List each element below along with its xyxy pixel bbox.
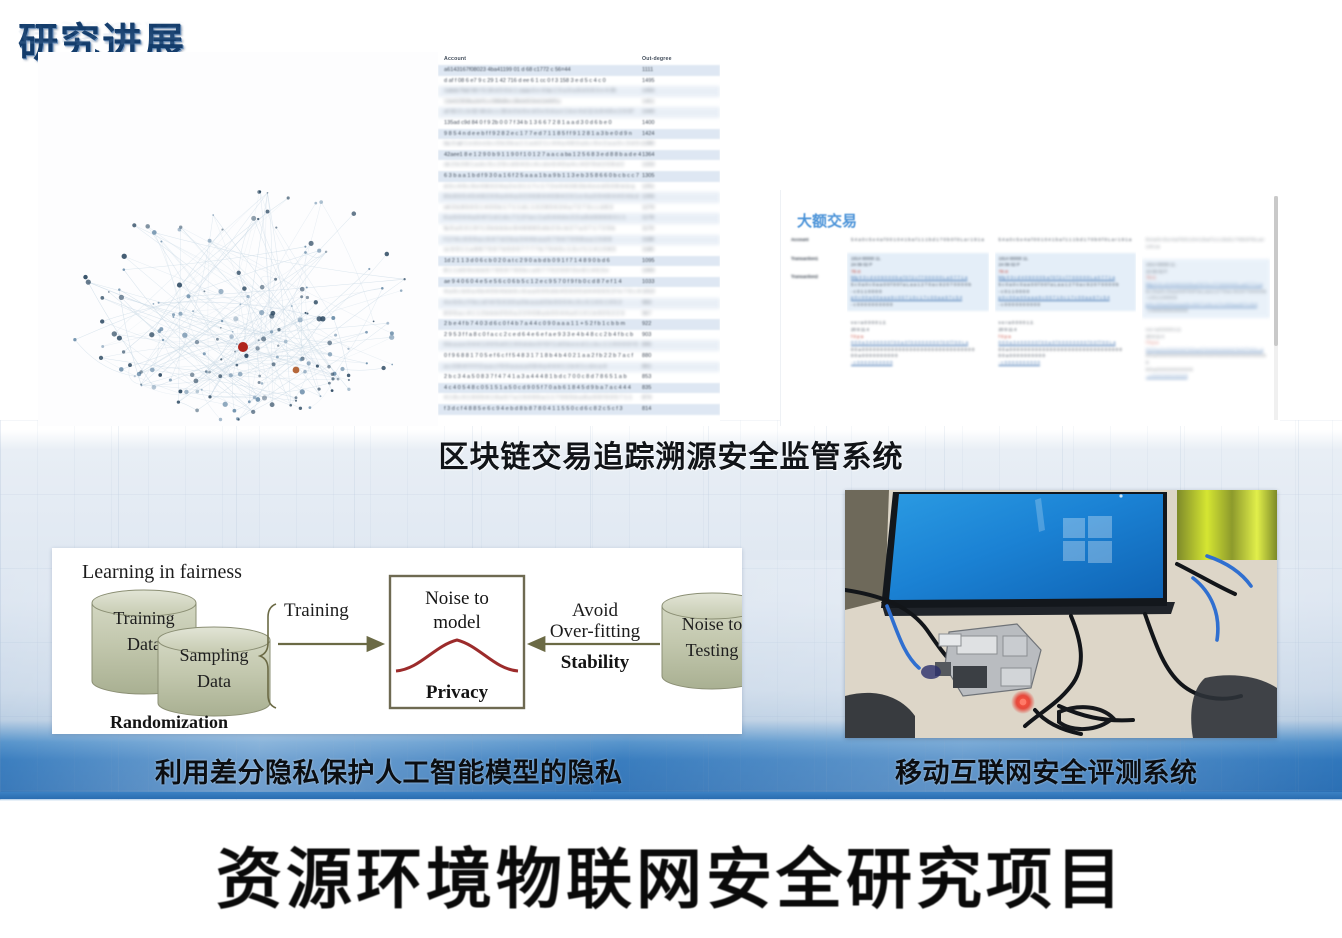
graph-node[interactable] xyxy=(368,268,370,270)
cell-out-degree: 1305 xyxy=(642,172,714,181)
graph-node[interactable] xyxy=(328,382,331,385)
graph-node[interactable] xyxy=(112,331,117,336)
transaction-detail-column-1: 5 4 a 0 c 5 e 4 a f 0 0 1 0 4 1 b a f 1 … xyxy=(847,234,989,389)
dp-box-line-2: model xyxy=(433,612,481,633)
graph-node[interactable] xyxy=(201,389,203,391)
graph-node[interactable] xyxy=(328,352,332,356)
cell-account: fa 5 a 5 3 1 9 f 1 3 b b b b e 8 4 8 8 8… xyxy=(444,225,642,234)
table-row[interactable]: f 1 f 4 c 6 5 9 a c 6 4 7 d 2 b a 3 4 4 … xyxy=(438,235,720,246)
graph-node[interactable] xyxy=(277,328,280,331)
graph-node[interactable] xyxy=(244,354,248,358)
graph-node[interactable] xyxy=(331,316,335,320)
graph-node[interactable] xyxy=(255,346,259,350)
graph-node[interactable] xyxy=(257,218,259,220)
graph-node[interactable] xyxy=(287,196,290,199)
graph-node[interactable] xyxy=(203,352,206,355)
graph-node[interactable] xyxy=(86,279,91,284)
graph-node[interactable] xyxy=(158,302,160,304)
graph-node[interactable] xyxy=(298,317,303,322)
graph-node[interactable] xyxy=(212,214,214,216)
graph-node[interactable] xyxy=(352,211,357,216)
graph-node[interactable] xyxy=(194,379,199,384)
transaction-line: 1914 00000 11. xyxy=(1146,262,1266,269)
graph-node[interactable] xyxy=(238,372,243,377)
transaction-panel-scrollbar[interactable] xyxy=(1274,196,1278,420)
cell-out-degree: 1451 xyxy=(642,98,714,107)
graph-node[interactable] xyxy=(391,364,393,366)
graph-node[interactable] xyxy=(195,340,199,344)
table-row[interactable]: ae 9 4 0 6 0 4 e 5 e 5 6 c 0 6 b 5 c 1 2… xyxy=(438,277,720,288)
graph-node[interactable] xyxy=(303,370,307,374)
graph-node[interactable] xyxy=(237,418,239,420)
graph-node[interactable] xyxy=(389,335,394,340)
cell-out-degree: 1251 xyxy=(642,183,714,192)
table-row[interactable]: a c 0 8 4 f f f f 2 a a c f 0 0 a a a a … xyxy=(438,362,720,373)
graph-node[interactable] xyxy=(331,389,334,392)
cell-out-degree: 1188 xyxy=(642,236,714,245)
graph-node[interactable] xyxy=(274,278,277,281)
graph-node[interactable] xyxy=(320,395,322,397)
graph-node[interactable] xyxy=(233,316,238,321)
graph-node[interactable] xyxy=(306,287,308,289)
table-row[interactable]: ba 3 ad 1 e d e e b c 0 b 3 b a 1 1 a d … xyxy=(438,139,720,150)
graph-node[interactable] xyxy=(348,379,350,381)
transaction-line: 5 c 0 a 0 c 0 a a 0 0 f 0 0 f a L a a 1 … xyxy=(999,282,1133,289)
graph-node[interactable] xyxy=(258,339,260,341)
transaction-line: f 0 p a xyxy=(999,334,1133,341)
graph-node[interactable] xyxy=(304,246,306,248)
graph-node[interactable] xyxy=(229,373,233,377)
transaction-label-column: Account Transaction1 Transaction2 xyxy=(787,234,841,389)
graph-node[interactable] xyxy=(219,418,222,421)
graph-node[interactable] xyxy=(233,409,237,413)
graph-node[interactable] xyxy=(304,251,307,254)
table-row[interactable]: 9 8 5 4 n d e e b f f 9 2 8 2 e c 1 7 7 … xyxy=(438,129,720,140)
graph-node[interactable] xyxy=(159,327,163,331)
transaction-line: - c 0 0 0 0 0 0 0 0 0 0 xyxy=(999,360,1133,367)
graph-node[interactable] xyxy=(295,396,298,399)
transaction-line: 0 0 0 a 3 4 0 0 0 0 0 f 0 0 a 0 f 0 0 0 … xyxy=(851,340,985,347)
cell-account: 1abdc7fa0 66 f 5 24 d 5 6 b 1 caaa 6 e 4… xyxy=(444,87,642,96)
transaction-block: v e r a 0 0 0 0 1 2.20 9 11 4f 0 p a0 0 … xyxy=(995,317,1137,369)
network-graph-panel xyxy=(38,52,438,426)
cell-out-degree: 1069 xyxy=(642,267,714,276)
ledger-table-header: Account Out-degree xyxy=(438,52,720,65)
graph-node[interactable] xyxy=(117,336,122,341)
graph-node[interactable] xyxy=(186,294,190,298)
graph-node[interactable] xyxy=(314,300,318,304)
graph-node[interactable] xyxy=(141,384,143,386)
cylinder-training-line-1: Training xyxy=(113,608,174,628)
dp-bottom-label: Randomization xyxy=(110,712,228,732)
cell-out-degree: 1265 xyxy=(642,193,714,202)
transaction-line: p 0 c 0 0 a 0 0 a a a 9 c 0 0 7 1 0 c 1 … xyxy=(851,295,985,302)
graph-node[interactable] xyxy=(318,388,321,391)
transaction-detail-column-3: 5 4 a 0 c 5 e 4 a f 0 0 1 0 4 1 b a f 1 … xyxy=(1142,234,1270,389)
transaction-line: f 0 p a xyxy=(1146,340,1266,347)
graph-node[interactable] xyxy=(299,358,302,361)
graph-node[interactable] xyxy=(373,321,375,323)
cell-account: a c 0 8 4 f f f f 2 a a c f 0 0 a a a a … xyxy=(444,363,642,372)
transaction-line: - c 0 0 0 0 0 0 0 0 0 0 xyxy=(1146,308,1266,315)
graph-node[interactable] xyxy=(236,364,239,367)
graph-node[interactable] xyxy=(190,373,194,377)
graph-node[interactable] xyxy=(366,362,368,364)
table-row[interactable]: cb 2 b 3 8 1 a d c 5 c 2 9 c d 6 4 3 c 4… xyxy=(438,160,720,171)
graph-node[interactable] xyxy=(182,333,187,338)
graph-node[interactable] xyxy=(237,271,241,275)
graph-node[interactable] xyxy=(276,356,279,359)
graph-node[interactable] xyxy=(270,402,275,407)
graph-node[interactable] xyxy=(232,331,234,333)
ledger-table-panel[interactable]: Account Out-degree a6143167f08023 4ba411… xyxy=(438,52,720,426)
graph-node[interactable] xyxy=(386,322,389,325)
graph-node[interactable] xyxy=(221,320,223,322)
graph-node[interactable] xyxy=(248,400,251,403)
table-row[interactable]: d 3 c 4 9 c 9 e 0 8 3 2 4 a 2 e 3 1 1 7 … xyxy=(438,182,720,193)
graph-secondary-node[interactable] xyxy=(293,367,300,374)
cell-account: ba 3 ad 1 e d e e b c 0 b 3 b a 1 1 a d … xyxy=(444,140,642,149)
cell-account: 4 c 4 0 5 4 8 c 0 5 1 5 1 a 5 0 c d 9 0 … xyxy=(444,384,642,393)
cell-account: f 1 f 4 c 6 5 9 a c 6 4 7 d 2 b a 3 4 4 … xyxy=(444,236,642,245)
graph-node[interactable] xyxy=(234,351,236,353)
table-row[interactable]: 2 b e 4 f b 7 4 0 3 d 6 c 0 f 4 b 7 a 4 … xyxy=(438,319,720,330)
cell-out-degree: 861 xyxy=(642,363,714,372)
graph-node[interactable] xyxy=(347,374,351,378)
table-row[interactable]: 8 b 8 6 5 4 5 4 8 2 0 9 a 4 4 a 3 2 0 6 … xyxy=(438,192,720,203)
cell-account: 2 b e 4 f b 7 4 0 3 d 6 c 0 f 4 b 7 a 4 … xyxy=(444,320,642,329)
graph-node[interactable] xyxy=(192,310,194,312)
graph-node[interactable] xyxy=(291,305,293,307)
transaction-line: 20 9 11 4 xyxy=(851,327,985,334)
graph-node[interactable] xyxy=(172,316,174,318)
graph-node[interactable] xyxy=(178,312,182,316)
column-header-out-degree: Out-degree xyxy=(642,56,714,62)
ledger-table-body[interactable]: a6143167f08023 4ba41199 01 d 68 c1772 c … xyxy=(438,65,720,415)
cell-out-degree: 922 xyxy=(642,320,714,329)
transaction-line: 20 9 11 4 xyxy=(1146,334,1266,341)
cell-account: 4 e 6 0 c f f b c d f 4 f 5 0 3 0 a 0 b … xyxy=(444,299,642,308)
graph-node[interactable] xyxy=(152,230,157,235)
table-row[interactable]: 1abdc7fa0 66 f 5 24 d 5 6 b 1 caaa 6 e 4… xyxy=(438,86,720,97)
table-row[interactable]: 6 a 6 0 4 4 a 0 4 f 1 d 1 d c 7 1 2 f a … xyxy=(438,213,720,224)
graph-node[interactable] xyxy=(258,381,261,384)
cell-account: 9 b a a e 0 4 4 1 0 0 5 d 0 1 9 0 d d e … xyxy=(444,341,642,350)
graph-node[interactable] xyxy=(139,370,143,374)
graph-node[interactable] xyxy=(267,192,269,194)
cell-account: 2 9 5 3 f f a 8 c 0 f a c c 2 c e d 6 4 … xyxy=(444,331,642,340)
graph-node[interactable] xyxy=(223,402,228,407)
cell-account: cb 2 b 3 8 1 a d c 5 c 2 9 c d 6 4 3 c 4… xyxy=(444,161,642,170)
graph-node[interactable] xyxy=(220,358,222,360)
cell-out-degree: 1170 xyxy=(642,225,714,234)
graph-node[interactable] xyxy=(300,287,305,292)
graph-node[interactable] xyxy=(284,340,288,344)
table-row[interactable]: a6143167f08023 4ba41199 01 d 68 c1772 c … xyxy=(438,65,720,76)
differential-privacy-diagram-panel: Learning in fairness Training Data Sampl… xyxy=(52,548,742,734)
graph-node[interactable] xyxy=(150,368,155,373)
lab-photo-panel xyxy=(845,490,1277,738)
graph-node[interactable] xyxy=(277,345,279,347)
graph-node[interactable] xyxy=(108,291,110,293)
cell-account: f 3 d c f 4 8 8 5 e 6 c 9 4 e b d 8 b 8 … xyxy=(444,405,642,414)
table-row[interactable]: 4 e 6 0 c f f b c d f 4 f 5 0 3 0 a 0 b … xyxy=(438,298,720,309)
graph-node[interactable] xyxy=(261,336,266,341)
cell-account: 13e62359ba3ef1cc088d8ec38eb503eb1b66f1z xyxy=(444,98,642,107)
graph-node[interactable] xyxy=(300,295,303,298)
transaction-line: 24 09 02 P xyxy=(851,262,985,269)
cell-out-degree: 853 xyxy=(642,373,714,382)
cylinder-noise-testing: Noise to Testing xyxy=(662,593,742,689)
graph-node[interactable] xyxy=(331,377,334,380)
graph-node[interactable] xyxy=(307,361,311,365)
table-row[interactable]: cc 6 9 1 1 a 8 8 7 5 9 7 b 5 0 0 7 7 7 7… xyxy=(438,245,720,256)
cell-account: 8 9 9 a c 4 1 1 2 b b b 0 5 0 a 2 2 0 0 … xyxy=(444,310,642,319)
graph-node[interactable] xyxy=(208,371,211,374)
table-row[interactable]: af 93 2 c b 02 44 d c c 26 b 0 b 9 e d 0… xyxy=(438,107,720,118)
transaction-line: 5 4 a 0 c 5 e 4 a f 0 0 1 0 4 1 b a f 1 … xyxy=(851,237,985,244)
graph-node[interactable] xyxy=(259,310,264,315)
graph-node[interactable] xyxy=(218,289,223,294)
cell-out-degree: 903 xyxy=(642,331,714,340)
graph-node[interactable] xyxy=(101,345,104,348)
graph-node[interactable] xyxy=(178,228,182,232)
cell-account: 42aee1 8 e 1 2 9 0 b 9 1 1 9 0 f 1 0 1 2… xyxy=(444,151,642,160)
transaction-line: 20 9 11 4 xyxy=(999,327,1133,334)
dp-box-line-1: Noise to xyxy=(425,588,489,609)
graph-node[interactable] xyxy=(260,285,265,290)
graph-node[interactable] xyxy=(73,338,76,341)
network-graph-svg xyxy=(38,52,438,426)
graph-node[interactable] xyxy=(251,410,255,414)
graph-node[interactable] xyxy=(119,295,124,300)
graph-node[interactable] xyxy=(162,339,164,341)
graph-node[interactable] xyxy=(242,286,246,290)
graph-node[interactable] xyxy=(229,334,234,339)
graph-node[interactable] xyxy=(184,390,188,394)
graph-node[interactable] xyxy=(177,400,180,403)
graph-node[interactable] xyxy=(316,365,319,368)
cell-account: d 3 c 4 9 c 9 e 0 8 3 2 4 a 2 e 3 1 1 7 … xyxy=(444,183,642,192)
graph-node[interactable] xyxy=(403,278,405,280)
graph-node[interactable] xyxy=(221,229,223,231)
cylinder-training-line-2: Data xyxy=(127,634,161,654)
cell-out-degree: 1495 xyxy=(642,77,714,86)
graph-node[interactable] xyxy=(152,385,157,390)
graph-node[interactable] xyxy=(400,289,403,292)
cell-out-degree: 874 xyxy=(642,394,714,403)
graph-node[interactable] xyxy=(257,190,261,194)
graph-node[interactable] xyxy=(123,268,126,271)
graph-node[interactable] xyxy=(347,348,349,350)
graph-node[interactable] xyxy=(381,287,384,290)
table-row[interactable]: 8 1 1 d 6 9 e b b 5 7 9 5 9 7 9 0 b c a … xyxy=(438,266,720,277)
graph-node[interactable] xyxy=(256,397,261,402)
graph-node[interactable] xyxy=(305,312,307,314)
transaction-block: v e r a 0 0 0 0 1 2.20 9 11 4f 0 p a0 0 … xyxy=(847,317,989,369)
graph-node[interactable] xyxy=(295,400,297,402)
cell-out-degree: 1111 xyxy=(642,66,714,75)
graph-node[interactable] xyxy=(160,240,162,242)
graph-node[interactable] xyxy=(319,200,323,204)
graph-node[interactable] xyxy=(246,295,249,298)
transaction-line: 1914 00000 11. xyxy=(999,256,1133,263)
cell-account: 4 a 6 c b 6 a 4 b 4 0 6 4 b b 6 c 6 a a … xyxy=(444,288,642,297)
graph-node[interactable] xyxy=(118,288,121,291)
cell-account: 4 1 8 c 0 1 9 0 5 4 1 9 a 5 7 a 1 5 0 9 … xyxy=(444,394,642,403)
transaction-line: 0 0 0 a 3 4 0 0 0 0 0 f 0 0 a 0 f 0 0 0 … xyxy=(1146,347,1266,354)
transaction-line: 5 c 0 a 0 c 0 a a 0 0 f 0 0 f a L a a 1 … xyxy=(851,282,985,289)
graph-node[interactable] xyxy=(289,404,292,407)
graph-node[interactable] xyxy=(317,249,321,253)
transaction-line: - c 0 1 1 0 0 0 0 xyxy=(999,289,1133,296)
graph-node[interactable] xyxy=(195,390,199,394)
graph-node[interactable] xyxy=(239,303,241,305)
cell-out-degree: 1380 xyxy=(642,140,714,149)
table-row[interactable]: 4 a 6 c b 6 a 4 b 4 0 6 4 b b 6 c 6 a a … xyxy=(438,287,720,298)
graph-node[interactable] xyxy=(132,223,136,227)
table-row[interactable]: 4 1 8 c 0 1 9 0 5 4 1 9 a 5 7 a 1 5 0 9 … xyxy=(438,393,720,404)
graph-node[interactable] xyxy=(275,227,277,229)
graph-highlight-node[interactable] xyxy=(238,342,248,352)
cell-out-degree: 880 xyxy=(642,352,714,361)
graph-node[interactable] xyxy=(270,330,273,333)
graph-node[interactable] xyxy=(347,388,350,391)
graph-node[interactable] xyxy=(334,334,337,337)
graph-node[interactable] xyxy=(145,224,150,229)
table-row[interactable]: 13e62359ba3ef1cc088d8ec38eb503eb1b66f1z1… xyxy=(438,97,720,108)
transaction-line: b0y 0 3 c d 4 0 9 0 0 0 b a f 0 f 2 c f … xyxy=(851,275,985,282)
graph-node[interactable] xyxy=(327,365,330,368)
graph-node[interactable] xyxy=(365,331,368,334)
table-row[interactable]: 2 9 5 3 f f a 8 c 0 f a c c 2 c e d 6 4 … xyxy=(438,330,720,341)
cell-account: af 93 2 c b 02 44 d c c 26 b 0 b 9 e d 0… xyxy=(444,108,642,117)
table-row[interactable]: fa 5 a 5 3 1 9 f 1 3 b b b b e 8 4 8 8 8… xyxy=(438,224,720,235)
graph-node[interactable] xyxy=(272,362,276,366)
graph-node[interactable] xyxy=(309,241,314,246)
graph-node[interactable] xyxy=(381,366,385,370)
cell-account: 1d 2 1 1 3 d 0 6 c b 0 2 0 a t c 2 9 0 a… xyxy=(444,257,642,266)
graph-node[interactable] xyxy=(300,389,305,394)
graph-node[interactable] xyxy=(122,254,127,259)
graph-node[interactable] xyxy=(236,343,238,345)
graph-node[interactable] xyxy=(177,283,182,288)
table-row[interactable]: e4 3 b 8 6 6 5 1 4 0 0 b 1 7 1 1 d L 1 3… xyxy=(438,203,720,214)
graph-node[interactable] xyxy=(128,363,132,367)
table-row[interactable]: 2 b c 3 4 a 5 0 8 3 7 f 4 7 4 1 a 3 a 4 … xyxy=(438,372,720,383)
graph-node[interactable] xyxy=(83,275,87,279)
cell-out-degree: 1400 xyxy=(642,119,714,128)
transaction-line: 0 0 a 0 0 0 0 0 0 0 0 0 0 0 0 0 0 0 0 0 … xyxy=(999,347,1133,354)
graph-node[interactable] xyxy=(337,378,340,381)
cell-account: 6 3 b a a 1 b d f 9 3 0 a 1 6 f 2 5 a a … xyxy=(444,172,642,181)
graph-node[interactable] xyxy=(203,290,205,292)
background-blue-divider xyxy=(0,792,1342,799)
dp-overfitting-label-1: Avoid xyxy=(572,600,619,621)
transaction-line: 0 0 a 0 0 0 0 0 0 0 0 0 0 0 0 0 0 0 0 0 … xyxy=(851,347,985,354)
graph-node[interactable] xyxy=(218,374,222,378)
graph-node[interactable] xyxy=(100,296,104,300)
cell-account: 6 a 6 0 4 4 a 0 4 f 1 d 1 d c 7 1 2 f a … xyxy=(444,214,642,223)
graph-node[interactable] xyxy=(314,202,317,205)
cell-out-degree: 1364 xyxy=(642,151,714,160)
graph-node[interactable] xyxy=(262,395,267,400)
graph-node[interactable] xyxy=(208,395,211,398)
graph-node[interactable] xyxy=(325,251,327,253)
table-row[interactable]: 0 f 9 6 8 8 1 7 0 5 e f 6 c f f 5 4 8 3 … xyxy=(438,351,720,362)
table-row[interactable]: 9 b a a e 0 4 4 1 0 0 5 d 0 1 9 0 d d e … xyxy=(438,340,720,351)
graph-node[interactable] xyxy=(331,373,334,376)
transaction-line: b0y 0 3 c d 4 0 9 0 0 0 b a f 0 f 2 c f … xyxy=(1146,282,1266,289)
table-row[interactable]: f 3 d c f 4 8 8 5 e 6 c 9 4 e b d 8 b 8 … xyxy=(438,404,720,415)
graph-node[interactable] xyxy=(317,316,322,321)
table-row[interactable]: 6 3 b a a 1 b d f 9 3 0 a 1 6 f 2 5 a a … xyxy=(438,171,720,182)
transaction-line: 1914 00000 11. xyxy=(851,256,985,263)
graph-node[interactable] xyxy=(261,382,264,385)
graph-node[interactable] xyxy=(258,375,261,378)
table-row[interactable]: 1d 2 1 1 3 d 0 6 c b 0 2 0 a t c 2 9 0 a… xyxy=(438,256,720,267)
graph-node[interactable] xyxy=(178,389,182,393)
transaction-line: 0 0 a 0 0 0 0 0 0 0 0 0 0 xyxy=(851,353,985,360)
graph-node[interactable] xyxy=(122,350,125,353)
transaction-line: 0 0 a 0 0 0 0 0 0 0 0 0 0 0 0 0 0 0 0 0 … xyxy=(1146,353,1266,366)
transaction-line: 24 09 02 P xyxy=(1146,269,1266,276)
graph-node[interactable] xyxy=(269,313,274,318)
table-row[interactable]: d af f 08 6 e7 9 c 29 1 42 716 d ee 6 1 … xyxy=(438,76,720,87)
table-row[interactable]: 42aee1 8 e 1 2 9 0 b 9 1 1 9 0 f 1 0 1 2… xyxy=(438,150,720,161)
graph-node[interactable] xyxy=(299,407,302,410)
graph-node[interactable] xyxy=(327,341,332,346)
graph-node[interactable] xyxy=(340,367,344,371)
table-row[interactable]: 4 c 4 0 5 4 8 c 0 5 1 5 1 a 5 0 c d 9 0 … xyxy=(438,383,720,394)
table-row[interactable]: 8 9 9 a c 4 1 1 2 b b b 0 5 0 a 2 2 0 0 … xyxy=(438,309,720,320)
graph-node[interactable] xyxy=(134,375,136,377)
graph-node[interactable] xyxy=(220,327,222,329)
photo-laptop-screen xyxy=(889,494,1163,600)
graph-node[interactable] xyxy=(119,367,124,372)
dp-training-arrow-label: Training xyxy=(284,600,349,621)
transaction-line: - c 0 0 0 0 0 0 0 0 0 0 xyxy=(851,302,985,309)
graph-node[interactable] xyxy=(266,210,270,214)
graph-node[interactable] xyxy=(153,303,155,305)
cell-out-degree: 1013 xyxy=(642,288,714,297)
graph-node[interactable] xyxy=(99,356,103,360)
transaction-detail-column-2: 5 4 a 0 c 5 e 4 a f 0 0 1 0 4 1 b a f 1 … xyxy=(995,234,1137,389)
graph-node[interactable] xyxy=(251,216,256,221)
graph-node[interactable] xyxy=(208,239,212,243)
cell-out-degree: 1270 xyxy=(642,204,714,213)
graph-node[interactable] xyxy=(172,313,175,316)
graph-node[interactable] xyxy=(169,378,172,381)
transaction-block: 1914 00000 11.24 09 02 P78 ctb0y 0 3 c d… xyxy=(847,253,989,312)
table-row[interactable]: 135ad c9d 84 0 f 9 2b 0 0 7 f 34 b 1 3 6… xyxy=(438,118,720,129)
graph-node[interactable] xyxy=(206,371,209,374)
graph-node[interactable] xyxy=(385,252,389,256)
cell-out-degree: 814 xyxy=(642,405,714,414)
graph-node[interactable] xyxy=(216,338,219,341)
transaction-line: v e r a 0 0 0 0 1 2. xyxy=(851,320,985,327)
transaction-line: - c 0 1 1 0 0 0 0 xyxy=(851,289,985,296)
graph-node[interactable] xyxy=(149,332,154,337)
graph-node[interactable] xyxy=(306,312,308,314)
cell-account: d af f 08 6 e7 9 c 29 1 42 716 d ee 6 1 … xyxy=(444,77,642,86)
graph-node[interactable] xyxy=(100,319,104,323)
graph-node[interactable] xyxy=(309,406,312,409)
large-transaction-panel[interactable]: 大额交易 Account Transaction1 Transaction2 5… xyxy=(780,190,1280,426)
graph-node[interactable] xyxy=(195,409,199,413)
graph-node[interactable] xyxy=(158,373,162,377)
graph-node[interactable] xyxy=(306,296,309,299)
